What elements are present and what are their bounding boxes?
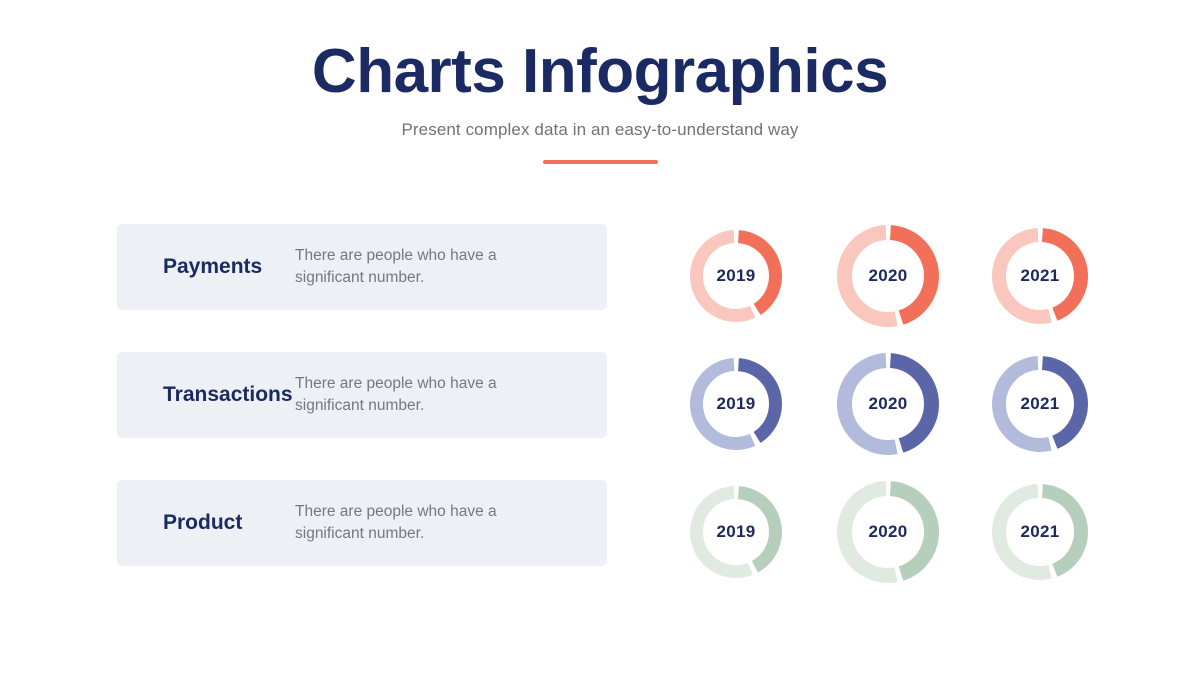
- category-panel-payments[interactable]: Payments There are people who have a sig…: [117, 224, 607, 310]
- donut-cell[interactable]: 2019: [660, 230, 812, 322]
- donut-ring: [992, 228, 1088, 324]
- donut-cell[interactable]: 2020: [812, 481, 964, 583]
- donut-cell[interactable]: 2021: [964, 356, 1116, 452]
- slide-canvas: Charts Infographics Present complex data…: [0, 0, 1200, 675]
- donut-ring: [837, 225, 939, 327]
- donut-ring: [690, 230, 782, 322]
- page-title: Charts Infographics: [0, 38, 1200, 106]
- donut-ring: [992, 356, 1088, 452]
- donut-cell[interactable]: 2020: [812, 353, 964, 455]
- category-description: There are people who have a significant …: [295, 373, 557, 417]
- slide-header: Charts Infographics Present complex data…: [0, 38, 1200, 164]
- donut-ring: [992, 484, 1088, 580]
- donut-cell[interactable]: 2019: [660, 358, 812, 450]
- donut-cell[interactable]: 2019: [660, 486, 812, 578]
- category-panel-transactions[interactable]: Transactions There are people who have a…: [117, 352, 607, 438]
- category-panel-product[interactable]: Product There are people who have a sign…: [117, 480, 607, 566]
- donut-row-transactions: 2019 2020 2021: [660, 340, 1120, 468]
- donut-ring: [837, 481, 939, 583]
- page-subtitle: Present complex data in an easy-to-under…: [0, 120, 1200, 140]
- donut-cell[interactable]: 2020: [812, 225, 964, 327]
- category-description: There are people who have a significant …: [295, 245, 557, 289]
- category-label: Transactions: [117, 383, 295, 407]
- donut-chart-grid: 2019 2020 2021 2019 2020 2021 2019 2020 …: [660, 212, 1120, 596]
- donut-cell[interactable]: 2021: [964, 228, 1116, 324]
- donut-row-product: 2019 2020 2021: [660, 468, 1120, 596]
- donut-ring: [690, 486, 782, 578]
- accent-divider: [543, 160, 658, 164]
- donut-cell[interactable]: 2021: [964, 484, 1116, 580]
- category-panel-list: Payments There are people who have a sig…: [117, 224, 607, 608]
- donut-row-payments: 2019 2020 2021: [660, 212, 1120, 340]
- category-label: Payments: [117, 255, 295, 279]
- category-label: Product: [117, 511, 295, 535]
- donut-ring: [690, 358, 782, 450]
- donut-ring: [837, 353, 939, 455]
- category-description: There are people who have a significant …: [295, 501, 557, 545]
